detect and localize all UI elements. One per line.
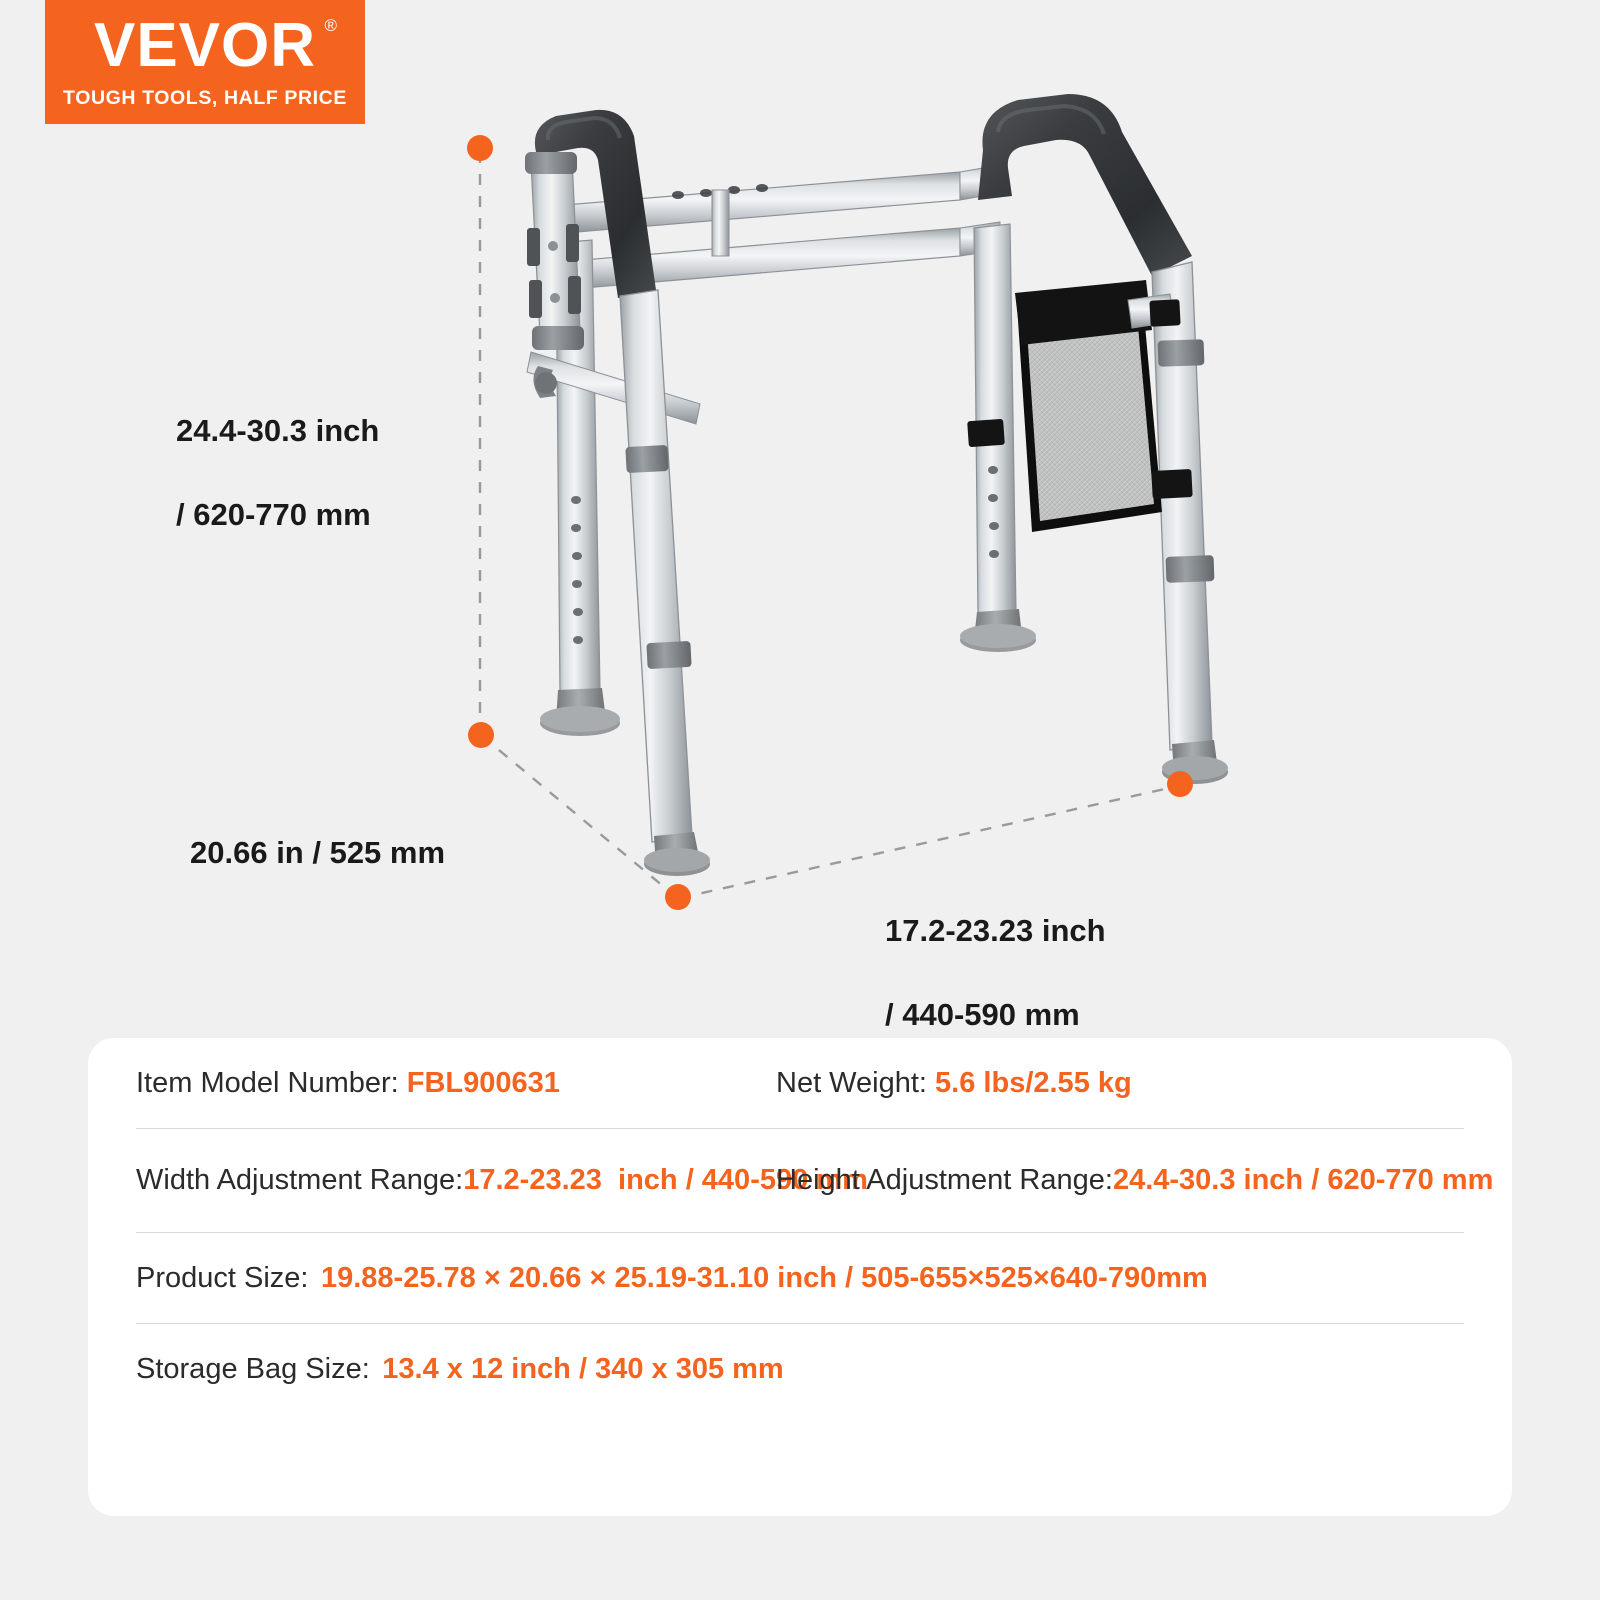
spec-item-storage-bag-size: Storage Bag Size: 13.4 x 12 inch / 340 x… [136,1353,784,1386]
spec-value-product-size: 19.88-25.78 × 20.66 × 25.19-31.10 inch /… [321,1262,1208,1294]
spec-item-model: Item Model Number: FBL900631 [136,1067,776,1100]
marker-top [467,135,493,161]
spec-value-storage-bag-size: 13.4 x 12 inch / 340 x 305 mm [382,1353,783,1385]
marker-front [665,884,691,910]
leg-front-right [1152,262,1228,784]
spec-item-net-weight: Net Weight: 5.6 lbs/2.55 kg [776,1067,1464,1100]
spec-value-model: FBL900631 [407,1067,560,1100]
spec-item-product-size: Product Size: 19.88-25.78 × 20.66 × 25.1… [136,1262,1208,1295]
callout-depth: 20.66 in / 525 mm [190,790,445,916]
spec-row-product-size: Product Size: 19.88-25.78 × 20.66 × 25.1… [136,1233,1464,1324]
callout-depth-text: 20.66 in / 525 mm [190,832,445,874]
spec-row-storage-bag-size: Storage Bag Size: 13.4 x 12 inch / 340 x… [136,1324,1464,1415]
spec-row-adjustment-ranges: Width Adjustment Range: 17.2-23.23 inch … [136,1129,1464,1233]
spec-item-height-range: Height Adjustment Range: 24.4-30.3 inch … [776,1162,1493,1200]
callout-width-line1: 17.2-23.23 inch [885,910,1106,952]
spec-item-width-range: Width Adjustment Range: 17.2-23.23 inch … [136,1162,776,1200]
marker-bottom-left [468,722,494,748]
spec-value-height-range: 24.4-30.3 inch / 620-770 mm [1113,1162,1493,1200]
spec-label-storage-bag-size: Storage Bag Size: [136,1353,378,1385]
guide-depth [482,736,675,896]
spec-row-model-weight: Item Model Number: FBL900631 Net Weight:… [136,1038,1464,1129]
callout-height-line1: 24.4-30.3 inch [176,410,379,452]
callout-height-line2: / 620-770 mm [176,494,379,536]
spec-label-net-weight: Net Weight: [776,1067,935,1100]
spec-label-height-range: Height Adjustment Range: [776,1162,1113,1200]
callout-height: 24.4-30.3 inch / 620-770 mm [176,368,379,577]
marker-right [1167,771,1193,797]
specification-card: Item Model Number: FBL900631 Net Weight:… [88,1038,1512,1516]
spec-label-width-range: Width Adjustment Range: [136,1162,463,1200]
spec-label-model: Item Model Number: [136,1067,407,1100]
product-spec-page: VEVOR ® TOUGH TOOLS, HALF PRICE [0,0,1600,1600]
spec-value-net-weight: 5.6 lbs/2.55 kg [935,1067,1132,1100]
callout-width-line2: / 440-590 mm [885,994,1106,1036]
frame-cross-brace [527,352,700,424]
spec-label-product-size: Product Size: [136,1262,317,1294]
upper-tube-left [525,152,584,350]
leg-front-left [620,290,710,876]
